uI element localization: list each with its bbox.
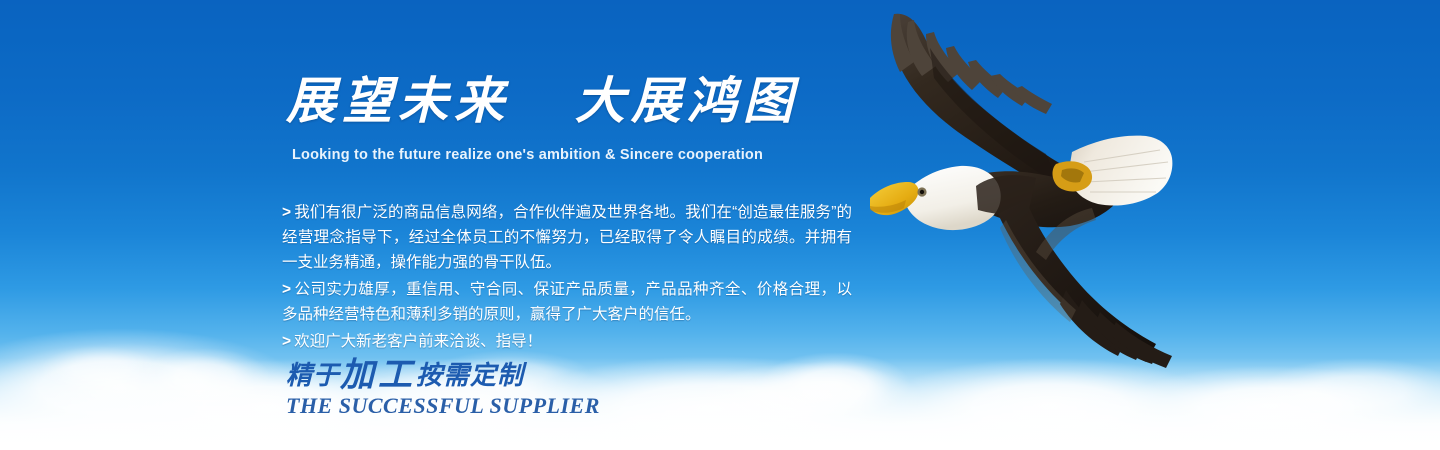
bullet-marker: > bbox=[282, 281, 291, 298]
cloud-shape bbox=[40, 346, 160, 392]
paragraph-text: 欢迎广大新老客户前来洽谈、指导！ bbox=[294, 333, 542, 350]
slogan-chinese: 精于加工按需定制 bbox=[286, 358, 600, 393]
subheadline: Looking to the future realize one's ambi… bbox=[292, 147, 763, 163]
paragraph-item: >我们有很广泛的商品信息网络，合作伙伴遍及世界各地。我们在“创造最佳服务”的经营… bbox=[282, 200, 852, 275]
cloud-shape bbox=[1260, 358, 1440, 424]
eagle-image bbox=[860, 0, 1190, 380]
paragraph-text: 我们有很广泛的商品信息网络，合作伙伴遍及世界各地。我们在“创造最佳服务”的经营理… bbox=[282, 204, 852, 271]
slogan-english: THE SUCCESSFUL SUPPLIER bbox=[286, 393, 600, 419]
paragraph-text: 公司实力雄厚，重信用、守合同、保证产品质量，产品品种齐全、价格合理，以多品种经营… bbox=[282, 281, 852, 323]
bullet-marker: > bbox=[282, 204, 291, 221]
cloud-shape bbox=[140, 348, 270, 406]
eagle-pupil bbox=[920, 190, 924, 194]
headline: 展望未来 大展鸿图 bbox=[286, 76, 799, 126]
hero-banner: 展望未来 大展鸿图 Looking to the future realize … bbox=[0, 0, 1440, 450]
headline-part-1: 展望未来 bbox=[286, 71, 510, 130]
banner-text-block: 展望未来 大展鸿图 Looking to the future realize … bbox=[282, 0, 882, 450]
bullet-marker: > bbox=[282, 333, 291, 350]
headline-part-2: 大展鸿图 bbox=[575, 71, 799, 130]
paragraph-list: >我们有很广泛的商品信息网络，合作伙伴遍及世界各地。我们在“创造最佳服务”的经营… bbox=[282, 200, 852, 356]
slogan-block: 精于加工按需定制 THE SUCCESSFUL SUPPLIER bbox=[286, 358, 600, 419]
slogan-suffix: 按需定制 bbox=[416, 361, 524, 391]
cloud-shape bbox=[0, 328, 300, 448]
paragraph-item: >公司实力雄厚，重信用、守合同、保证产品质量，产品品种齐全、价格合理，以多品种经… bbox=[282, 277, 852, 327]
paragraph-item: >欢迎广大新老客户前来洽谈、指导！ bbox=[282, 329, 852, 354]
slogan-prefix: 精于 bbox=[286, 361, 340, 391]
slogan-emphasis: 加工 bbox=[340, 355, 416, 395]
